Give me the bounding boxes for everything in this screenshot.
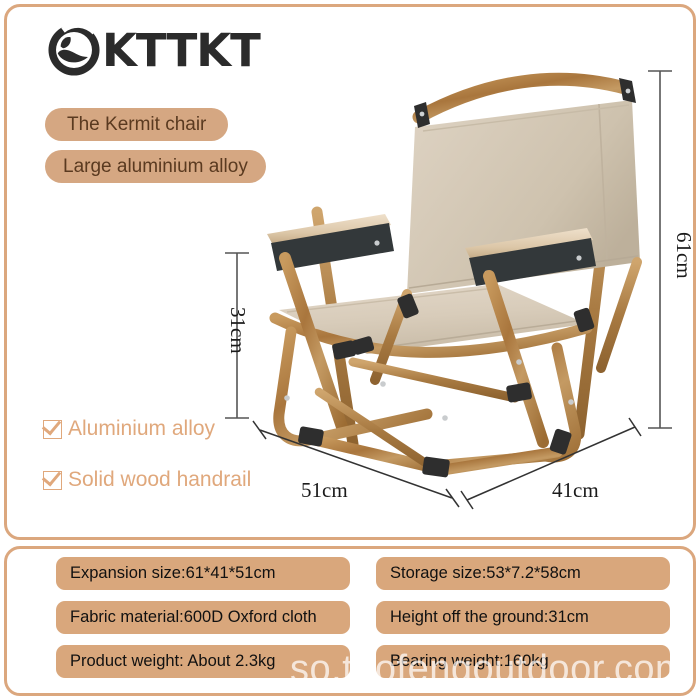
- spec-bearing-weight: Bearing weight:160kg: [376, 645, 670, 678]
- checkbox-checked-icon: [43, 471, 62, 490]
- dimension-lines-overlay: [3, 3, 700, 543]
- main-panel: KTTKT The Kermit chair Large aluminium a…: [4, 4, 696, 540]
- dimension-label-51cm: 51cm: [301, 478, 348, 503]
- feature-label: Aluminium alloy: [68, 417, 215, 441]
- checkbox-checked-icon: [43, 420, 62, 439]
- feature-aluminium-alloy: Aluminium alloy: [43, 417, 215, 441]
- infographic-page: KTTKT The Kermit chair Large aluminium a…: [0, 0, 700, 700]
- spec-product-weight: Product weight: About 2.3kg: [56, 645, 350, 678]
- spec-expansion-size: Expansion size:61*41*51cm: [56, 557, 350, 590]
- feature-label: Solid wood handrail: [68, 468, 251, 492]
- spec-storage-size: Storage size:53*7.2*58cm: [376, 557, 670, 590]
- feature-solid-wood-handrail: Solid wood handrail: [43, 468, 251, 492]
- dimension-label-41cm: 41cm: [552, 478, 599, 503]
- spec-height-off-ground: Height off the ground:31cm: [376, 601, 670, 634]
- dimension-label-31cm: 31cm: [225, 307, 250, 354]
- dimension-label-61cm: 61cm: [671, 232, 696, 279]
- spec-fabric-material: Fabric material:600D Oxford cloth: [56, 601, 350, 634]
